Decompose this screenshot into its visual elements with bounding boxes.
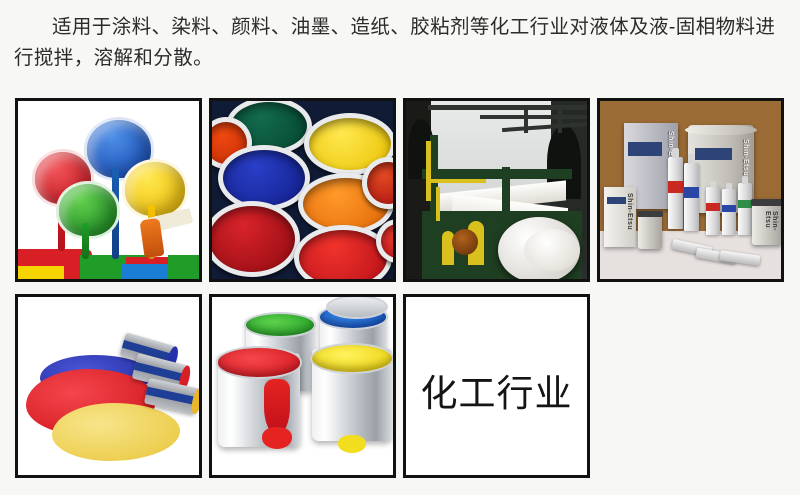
adhesive-sealant-products-photo: Shin-Etsu Shin-Etsu Shin-Etsu Shin-Etsu — [600, 101, 781, 279]
mill-drive-wheel — [452, 229, 478, 255]
sealant-pail-rim — [685, 125, 756, 135]
sealant-cartridge-4 — [722, 189, 736, 235]
mill-column-mid — [502, 167, 510, 217]
gallery-panel-paper-mill[interactable] — [403, 98, 590, 282]
gallery-panel-caption[interactable]: 化工行业 — [403, 294, 590, 478]
pigment-can-blue — [218, 145, 310, 211]
sealant-tin-label — [628, 142, 662, 156]
gallery-panel-spilled-paint[interactable] — [15, 294, 202, 478]
mill-hanger-1 — [524, 107, 528, 133]
gallery-panel-paint-buckets[interactable] — [209, 294, 396, 478]
sealant-cartridge-3 — [706, 187, 720, 235]
paper-roll-face — [524, 229, 580, 271]
paint-floor-pools — [18, 247, 199, 279]
gallery-panel-paint-pouring[interactable] — [15, 98, 202, 282]
sealant-pail-label — [695, 148, 732, 160]
metal-paint-buckets-photo — [212, 297, 393, 475]
paint-pouring-cans-photo — [18, 101, 199, 279]
chemical-industry-caption: 化工行业 — [421, 363, 573, 417]
sealant-cartridge-5 — [738, 183, 752, 235]
mill-frame-rail — [422, 169, 572, 179]
paint-bucket-yellow — [312, 349, 392, 441]
paint-drip-red — [262, 427, 292, 449]
paper-making-machine-photo — [406, 101, 587, 279]
spilled-paint-cans-photo — [18, 297, 199, 475]
paint-spill-yellow — [52, 403, 180, 461]
sealant-jar-right: Shin-Etsu — [752, 199, 781, 245]
sealant-carton-box: Shin-Etsu — [604, 187, 636, 247]
intro-paragraph: 适用于涂料、染料、颜料、油墨、造纸、胶粘剂等化工行业对液体及液-固相物料进行搅拌… — [14, 12, 786, 74]
open-pigment-cans-photo — [212, 101, 393, 279]
paint-stream-green — [82, 223, 89, 259]
paint-drip-yellow — [338, 435, 366, 453]
sealant-jar-cap — [637, 211, 662, 217]
sealant-jar-small — [638, 211, 662, 249]
mill-hanger-2 — [558, 107, 562, 133]
gallery-panel-sealants[interactable]: Shin-Etsu Shin-Etsu Shin-Etsu Shin-Etsu — [597, 98, 784, 282]
mill-guard-post — [436, 187, 440, 221]
mill-overhead-beam-2 — [480, 115, 587, 119]
sealant-cartridge-1 — [668, 157, 683, 229]
image-gallery: Shin-Etsu Shin-Etsu Shin-Etsu Shin-Etsu — [15, 98, 785, 478]
pigment-can-darkred — [212, 201, 300, 277]
mill-overhead-beam-1 — [428, 105, 587, 110]
mill-guard-rail-horizontal — [426, 179, 486, 183]
gallery-empty-cell — [597, 294, 784, 478]
sealant-cartridge-2 — [684, 163, 699, 231]
mill-guard-rail-vertical — [426, 141, 431, 201]
gallery-panel-pigment-cans[interactable] — [209, 98, 396, 282]
